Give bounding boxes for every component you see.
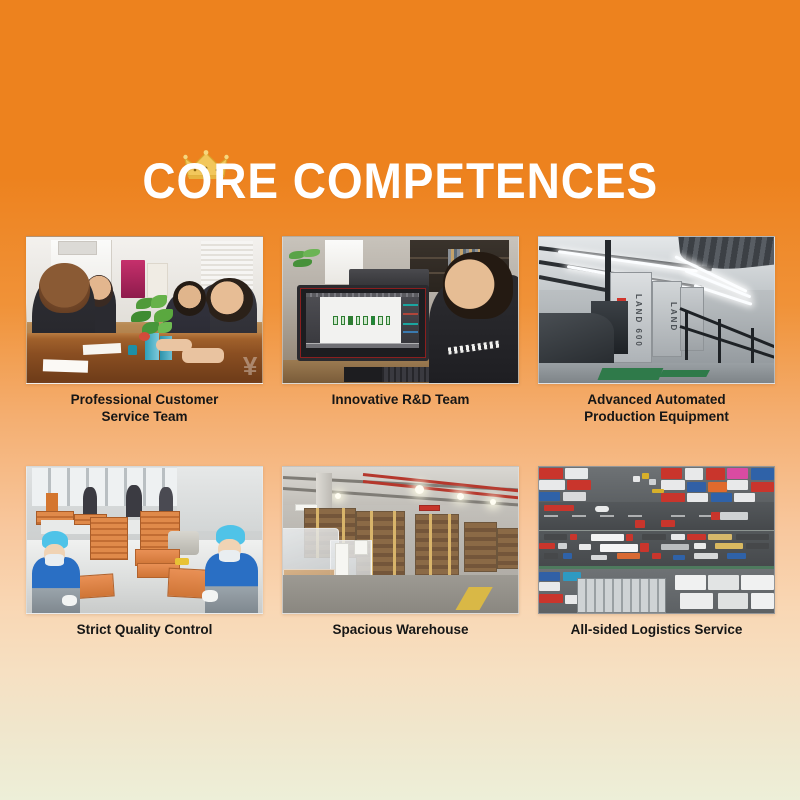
competence-card-spacious-warehouse[interactable]: Spacious Warehouse bbox=[282, 466, 519, 638]
photo-rd-workstation bbox=[282, 236, 519, 384]
caption-line: Production Equipment bbox=[538, 408, 775, 425]
card-caption: All-sided Logistics Service bbox=[538, 621, 775, 638]
competence-card-professional-customer-service-team[interactable]: ¥ Professional Customer Service Team bbox=[26, 236, 263, 425]
photo-quality-control bbox=[26, 466, 263, 614]
photo-printing-press: LAND 600 LAND bbox=[538, 236, 775, 384]
competence-grid: ¥ Professional Customer Service Team bbox=[26, 236, 775, 638]
photo-meeting-room: ¥ bbox=[26, 236, 263, 384]
worker-left bbox=[29, 531, 85, 613]
competence-card-advanced-automated-production-equipment[interactable]: LAND 600 LAND bbox=[538, 236, 775, 425]
caption-line: Professional Customer bbox=[26, 391, 263, 408]
page-title: CORE COMPETENCES bbox=[142, 152, 658, 210]
photo-warehouse bbox=[282, 466, 519, 614]
card-caption: Strict Quality Control bbox=[26, 621, 263, 638]
card-caption: Professional Customer Service Team bbox=[26, 391, 263, 425]
card-caption: Spacious Warehouse bbox=[282, 621, 519, 638]
press-brand-text: LAND 600 bbox=[634, 294, 643, 348]
photo-aerial-logistics bbox=[538, 466, 775, 614]
card-caption: Advanced Automated Production Equipment bbox=[538, 391, 775, 425]
competence-card-strict-quality-control[interactable]: Strict Quality Control bbox=[26, 466, 263, 638]
caption-line: Advanced Automated bbox=[538, 391, 775, 408]
caption-line: Strict Quality Control bbox=[26, 621, 263, 638]
competence-row-2: Strict Quality Control bbox=[26, 466, 775, 638]
page-title-block: CORE COMPETENCES bbox=[0, 152, 800, 210]
competence-card-all-sided-logistics-service[interactable]: All-sided Logistics Service bbox=[538, 466, 775, 638]
card-caption: Innovative R&D Team bbox=[282, 391, 519, 408]
caption-line: Spacious Warehouse bbox=[282, 621, 519, 638]
cad-toolbar-icons bbox=[333, 317, 390, 324]
caption-line: Service Team bbox=[26, 408, 263, 425]
press-brand-text: LAND bbox=[669, 302, 678, 332]
worker-right bbox=[201, 525, 262, 613]
competence-row-1: ¥ Professional Customer Service Team bbox=[26, 236, 775, 425]
caption-line: All-sided Logistics Service bbox=[538, 621, 775, 638]
watermark: ¥ bbox=[243, 351, 257, 382]
core-competences-banner: CORE COMPETENCES bbox=[0, 0, 800, 800]
competence-card-innovative-rd-team[interactable]: Innovative R&D Team bbox=[282, 236, 519, 425]
caption-line: Innovative R&D Team bbox=[282, 391, 519, 408]
